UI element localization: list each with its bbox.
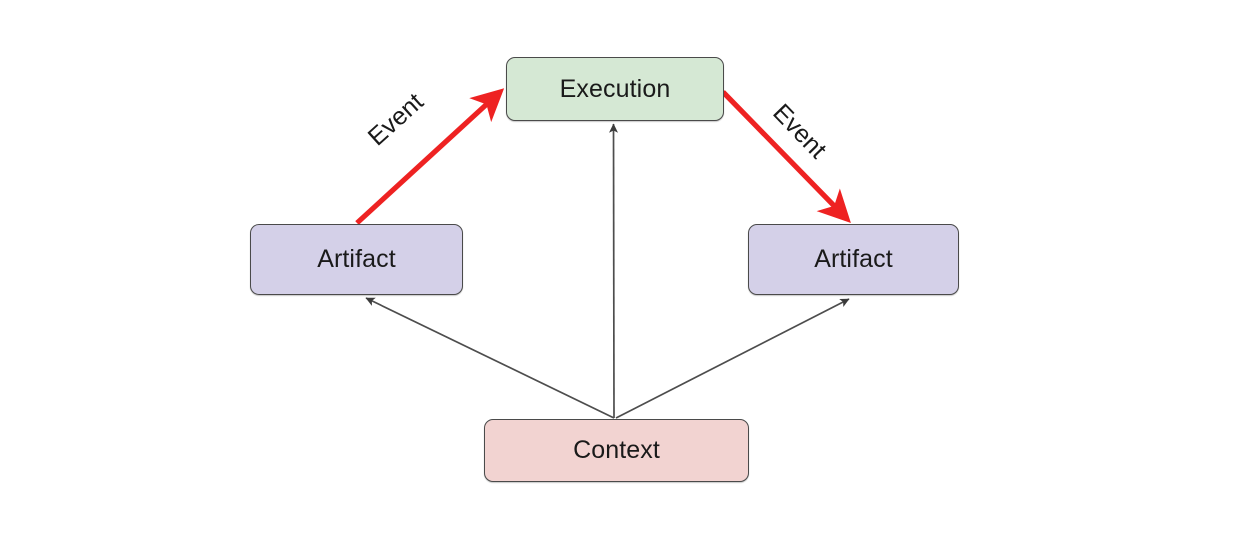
edge-context-to-artifact-right: [616, 299, 849, 418]
node-context[interactable]: Context: [484, 419, 749, 482]
edge-label-event-right: Event: [768, 100, 830, 163]
node-artifact-right[interactable]: Artifact: [748, 224, 959, 295]
edge-artifact-left-to-execution: [357, 92, 500, 223]
node-artifact-right-label: Artifact: [814, 247, 893, 272]
node-artifact-left-label: Artifact: [317, 247, 396, 272]
edge-context-to-execution: [614, 124, 615, 418]
node-context-label: Context: [573, 438, 660, 463]
edge-context-to-artifact-left: [366, 298, 614, 418]
edge-label-event-left: Event: [364, 89, 428, 150]
node-execution-label: Execution: [560, 77, 671, 102]
diagram-canvas: Execution Artifact Artifact Context Even…: [0, 0, 1236, 542]
node-execution[interactable]: Execution: [506, 57, 724, 121]
node-artifact-left[interactable]: Artifact: [250, 224, 463, 295]
